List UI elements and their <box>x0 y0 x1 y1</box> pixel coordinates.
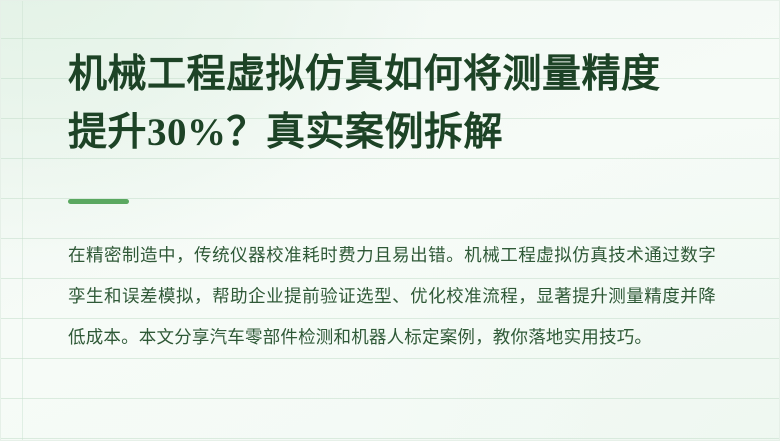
article-cover-card: 机械工程虚拟仿真如何将测量精度 提升30%？真实案例拆解 在精密制造中，传统仪器… <box>0 0 780 441</box>
title-accent-divider <box>68 199 129 204</box>
article-summary: 在精密制造中，传统仪器校准耗时费力且易出错。机械工程虚拟仿真技术通过数字孪生和误… <box>68 235 716 358</box>
cover-content: 机械工程虚拟仿真如何将测量精度 提升30%？真实案例拆解 在精密制造中，传统仪器… <box>0 0 780 441</box>
page-title: 机械工程虚拟仿真如何将测量精度 提升30%？真实案例拆解 <box>68 46 722 162</box>
